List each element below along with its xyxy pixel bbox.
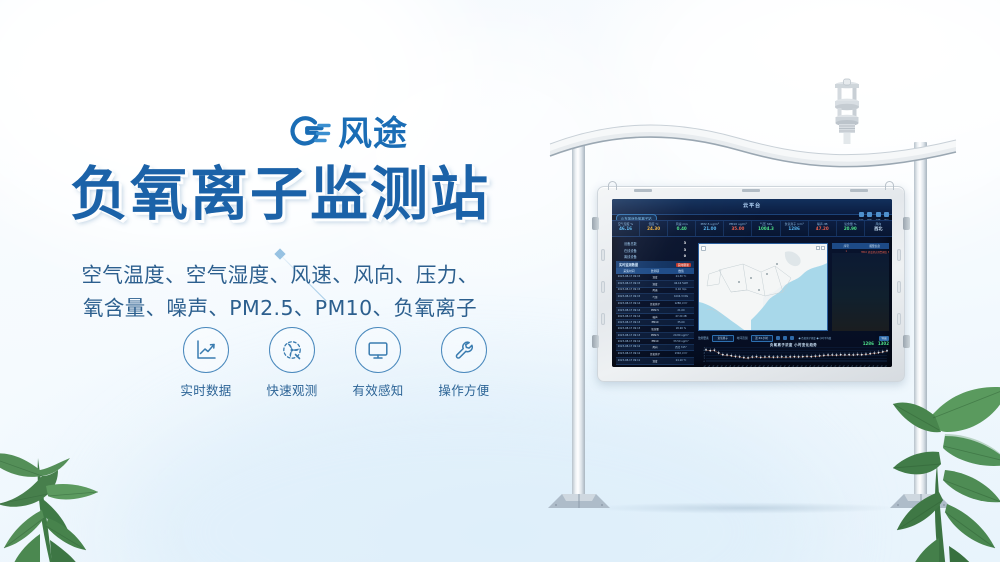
monitor-icon <box>355 327 401 373</box>
feature-list: 实时数据 快速观测 <box>175 327 495 399</box>
svg-text:37:00: 37:00 <box>858 365 863 367</box>
table-cell: 24.30 ℃ <box>668 274 694 280</box>
chart-filter-label-2: 时间范围 <box>737 336 748 340</box>
wave-canopy-icon <box>548 116 958 178</box>
svg-text:36:00: 36:00 <box>854 365 859 367</box>
svg-text:6: 6 <box>704 350 706 352</box>
table-cell: 33.50 ug/m³ <box>668 339 694 344</box>
svg-text:29:00: 29:00 <box>824 365 829 367</box>
svg-text:02:00: 02:00 <box>711 365 716 367</box>
cabinet-latch <box>601 281 605 293</box>
svg-text:13:00: 13:00 <box>757 365 762 367</box>
zoom-out-icon[interactable] <box>821 246 825 250</box>
svg-text:0: 0 <box>704 361 706 363</box>
subtitle-line-2: 氧含量、噪声、PM2.5、PM10、负氧离子 <box>0 292 560 325</box>
table-cell: 21.00 <box>668 308 694 313</box>
table-cell: 1286 /cm³ <box>668 301 694 307</box>
svg-text:16:00: 16:00 <box>769 365 774 367</box>
subtitle-line-1: 空气温度、空气湿度、风速、风向、压力、 <box>0 259 560 292</box>
svg-text:09:00: 09:00 <box>740 365 745 367</box>
cabinet-latch <box>897 313 901 325</box>
svg-text:22:00: 22:00 <box>795 365 800 367</box>
feature-item-fast-observation[interactable]: 快速观测 <box>261 327 323 399</box>
stat-key: 设备总数 <box>624 241 637 246</box>
table-cell: 0.40 m/s <box>668 288 694 294</box>
stat-value: 3 <box>684 248 686 253</box>
dashboard-title: 云平台 <box>743 202 761 209</box>
alarm-body: 1PM10 浓度超过预警阈值 35.0 <box>832 249 889 255</box>
table-row[interactable]: 2023-08-17 09:12风向西北 315° <box>616 345 694 352</box>
svg-text:19:00: 19:00 <box>782 365 787 367</box>
text-panel: 风途 负氧离子监测站 空气温度、空气湿度、风速、风向、压力、 氧含量、噪声、PM… <box>0 0 560 562</box>
table-cell: 2023-08-17 09:11 <box>616 358 642 364</box>
svg-text:43:00: 43:00 <box>883 365 888 367</box>
table-cell: 20.80 ug/m³ <box>668 333 694 338</box>
svg-text:20:00: 20:00 <box>786 365 791 367</box>
chart-view-bar-icon[interactable] <box>776 336 780 340</box>
feature-label: 有效感知 <box>347 380 409 399</box>
svg-text:15:00: 15:00 <box>765 365 770 367</box>
table-cell: 风向 <box>642 345 668 351</box>
table-cell: 2023-08-17 09:15 <box>616 281 642 287</box>
svg-text:1: 1 <box>704 358 705 360</box>
svg-text:28:00: 28:00 <box>820 365 825 367</box>
map-layers-icon[interactable] <box>701 246 706 251</box>
metric-card[interactable]: 温度 ℃24.30 <box>640 221 668 236</box>
chart-range-select[interactable]: 近 24 小时 <box>751 335 773 342</box>
fullscreen-icon <box>859 212 864 217</box>
svg-text:25:00: 25:00 <box>807 365 812 367</box>
svg-text:12:00: 12:00 <box>753 365 758 367</box>
table-cell: 20.90 % <box>668 326 694 332</box>
wind-g-logo-icon <box>285 113 331 155</box>
table-row[interactable]: 2023-08-17 09:14噪声47.20 dB <box>616 314 694 321</box>
table-row[interactable]: 2023-08-17 09:12负氧离子1302 /cm³ <box>616 351 694 358</box>
station-map[interactable] <box>698 243 828 331</box>
cabinet-latch <box>601 313 605 325</box>
svg-text:3: 3 <box>704 355 705 357</box>
table-cell: 2023-08-17 09:15 <box>616 288 642 294</box>
metric-value: 0.40 <box>668 226 695 233</box>
table-cell: 2023-08-17 09:12 <box>616 339 642 344</box>
table-cell: 湿度 <box>642 281 668 287</box>
table-cell: 负氧离子 <box>642 351 668 357</box>
metric-value: 46.16 <box>612 226 639 233</box>
svg-text:4: 4 <box>704 353 706 355</box>
table-row[interactable]: 2023-08-17 09:15气压1004.3 hPa <box>616 294 694 301</box>
svg-text:17:00: 17:00 <box>774 365 779 367</box>
table-cell: 2023-08-17 09:13 <box>616 320 642 325</box>
table-cell: 2023-08-17 09:12 <box>616 351 642 357</box>
table-title: 实时监测数据 <box>619 262 638 267</box>
camera-feed-panel <box>832 253 889 331</box>
radar-fan-icon <box>269 327 315 373</box>
chart-filter-label-1: 监测要素 <box>698 336 709 340</box>
map-zoom-controls[interactable] <box>816 246 826 250</box>
table-cell: 1004.3 hPa <box>668 294 694 300</box>
feature-item-realtime-data[interactable]: 实时数据 <box>175 327 237 399</box>
promo-banner: 风途 负氧离子监测站 空气温度、空气湿度、风速、风向、压力、 氧含量、噪声、PM… <box>0 0 1000 562</box>
svg-text:27:00: 27:00 <box>816 365 821 367</box>
alarm-cell: PM10 浓度超过预警阈值 35.0 <box>861 250 890 254</box>
svg-text:01:00: 01:00 <box>706 365 711 367</box>
svg-text:33:00: 33:00 <box>841 365 846 367</box>
svg-text:07:00: 07:00 <box>732 365 737 367</box>
chart-element-select[interactable]: 负氧离子 <box>712 335 734 342</box>
user-icon <box>884 212 889 217</box>
display-cabinet: 云平台 山东风途负氧离子站 全屏 刷新 设置 <box>597 186 905 382</box>
support-pole-left <box>572 142 585 500</box>
metric-value: 24.30 <box>640 226 667 233</box>
chart-legend: ● 负氧离子浓度 ● 小时平均值 <box>799 336 832 340</box>
table-cell: 24.10 ℃ <box>668 358 694 364</box>
table-row[interactable]: 2023-08-17 09:15湿度46.16 %RH <box>616 281 694 288</box>
table-row[interactable]: 2023-08-17 09:15温度24.30 ℃ <box>616 274 694 281</box>
cabinet-hinge <box>903 217 910 230</box>
stat-value: 3 <box>684 241 686 246</box>
stat-row: 设备总数3 <box>616 241 694 246</box>
svg-text:31:00: 31:00 <box>833 365 838 367</box>
zoom-in-icon[interactable] <box>816 246 820 250</box>
table-cell: 噪声 <box>642 314 668 320</box>
alarm-column-headers: 序号报警信息 <box>832 243 889 249</box>
metric-strip: 空气湿度 %46.16温度 ℃24.30风速 m/s0.40PM2.5 ug/m… <box>612 220 892 237</box>
chart-export-button[interactable]: 导出 <box>879 336 889 341</box>
alarm-cell: 1 <box>832 250 861 254</box>
table-row[interactable]: 2023-08-17 09:15风速0.40 m/s <box>616 288 694 295</box>
svg-text:41:00: 41:00 <box>875 365 880 367</box>
cabinet-hinge <box>592 335 599 348</box>
svg-text:38:00: 38:00 <box>862 365 867 367</box>
table-cell: 2023-08-17 09:13 <box>616 333 642 338</box>
feature-item-easy-operation[interactable]: 操作方便 <box>433 327 495 399</box>
cabinet-hinge <box>592 217 599 230</box>
table-cell: PM2.5 <box>642 308 668 313</box>
metric-card[interactable]: PM2.5 ug/m³21.00 <box>696 221 724 236</box>
table-cell: 气压 <box>642 294 668 300</box>
table-cell: 1302 /cm³ <box>668 351 694 357</box>
gear-icon <box>876 212 881 217</box>
table-cell: 2023-08-17 09:15 <box>616 274 642 280</box>
feature-label: 操作方便 <box>433 380 495 399</box>
table-body: 2023-08-17 09:15温度24.30 ℃2023-08-17 09:1… <box>616 274 694 365</box>
device-stats-panel: 设备总数3在线设备3离线设备0 <box>616 241 694 261</box>
svg-text:23:00: 23:00 <box>799 365 804 367</box>
metric-card[interactable]: 气压 hPa1004.3 <box>752 221 780 236</box>
svg-text:30:00: 30:00 <box>828 365 833 367</box>
alarm-column-header: 报警信息 <box>861 243 890 249</box>
metric-card[interactable]: 氧含量 %20.90 <box>837 221 865 236</box>
svg-text:34:00: 34:00 <box>845 365 850 367</box>
svg-text:03:00: 03:00 <box>715 365 720 367</box>
table-row[interactable]: 2023-08-17 09:14负氧离子1286 /cm³ <box>616 301 694 308</box>
cabinet-hinge <box>903 335 910 348</box>
svg-text:18:00: 18:00 <box>778 365 783 367</box>
status-badge: 实时刷新 <box>676 263 691 267</box>
alarm-column-header: 序号 <box>832 243 861 249</box>
metric-value: 西北 <box>865 226 892 233</box>
cabinet-latch <box>601 249 605 261</box>
svg-text:06:00: 06:00 <box>727 365 732 367</box>
stat-row: 离线设备0 <box>616 254 694 259</box>
wrench-icon <box>441 327 487 373</box>
table-header-bar: 实时监测数据 实时刷新 <box>616 261 694 268</box>
metric-value: 20.90 <box>837 226 864 233</box>
dashboard-screen[interactable]: 云平台 山东风途负氧离子站 全屏 刷新 设置 <box>612 199 892 367</box>
svg-text:11:00: 11:00 <box>748 365 753 367</box>
cabinet-hook-icon <box>608 181 617 190</box>
svg-text:04:00: 04:00 <box>719 365 724 367</box>
realtime-data-table[interactable]: 实时监测数据 实时刷新 采集时间监测项数值 2023-08-17 09:15温度… <box>616 261 694 365</box>
table-cell: 2023-08-17 09:14 <box>616 314 642 320</box>
table-cell: 2023-08-17 09:13 <box>616 326 642 332</box>
table-cell: 35.00 <box>668 320 694 325</box>
table-cell: 风速 <box>642 288 668 294</box>
trend-chart[interactable]: 76431000:0001:0002:0003:0004:0005:0006:0… <box>698 346 889 367</box>
metric-card[interactable]: 风向西北 <box>865 221 892 236</box>
refresh-icon <box>867 212 872 217</box>
table-cell: 西北 315° <box>668 345 694 351</box>
table-cell: 负氧离子 <box>642 301 668 307</box>
cabinet-hook-icon <box>885 181 894 190</box>
metric-value: 1004.3 <box>752 226 779 233</box>
page-title: 负氧离子监测站 <box>0 163 560 226</box>
table-cell: 46.16 %RH <box>668 281 694 287</box>
table-cell: 47.20 dB <box>668 314 694 320</box>
metric-value: 1286 <box>781 226 808 233</box>
svg-text:08:00: 08:00 <box>736 365 741 367</box>
stat-key: 在线设备 <box>624 248 637 253</box>
chart-controls: 监测要素 负氧离子 时间范围 近 24 小时 ● 负氧离子浓度 ● 小时平均值 … <box>698 334 889 342</box>
feature-label: 快速观测 <box>261 380 323 399</box>
chart-view-table-icon[interactable] <box>790 336 794 340</box>
alarm-panel: 序号报警信息 1PM10 浓度超过预警阈值 35.0 <box>832 243 889 255</box>
stat-key: 离线设备 <box>624 254 637 259</box>
pole-base-plate-icon <box>890 492 952 509</box>
svg-text:00:00: 00:00 <box>702 365 707 367</box>
table-cell: PM2.5 <box>642 333 668 338</box>
table-cell: 温度 <box>642 274 668 280</box>
pole-base-plate-icon <box>548 492 610 509</box>
metric-card[interactable]: 噪声 dB47.20 <box>809 221 837 236</box>
table-row[interactable]: 2023-08-17 09:13氧含量20.90 % <box>616 326 694 333</box>
table-cell: PM10 <box>642 339 668 344</box>
brand-name: 风途 <box>338 117 408 151</box>
title-divider <box>274 248 285 259</box>
svg-text:35:00: 35:00 <box>849 365 854 367</box>
table-cell: 2023-08-17 09:14 <box>616 301 642 307</box>
alarm-row[interactable]: 1PM10 浓度超过预警阈值 35.0 <box>832 249 889 255</box>
svg-text:21:00: 21:00 <box>791 365 796 367</box>
svg-text:42:00: 42:00 <box>879 365 884 367</box>
svg-text:14:00: 14:00 <box>761 365 766 367</box>
svg-text:26:00: 26:00 <box>812 365 817 367</box>
metric-card[interactable]: 风速 m/s0.40 <box>668 221 696 236</box>
cabinet-mount-tab <box>742 189 760 192</box>
table-row[interactable]: 2023-08-17 09:11温度24.10 ℃ <box>616 358 694 365</box>
stat-value: 0 <box>684 254 686 259</box>
line-chart-icon <box>183 327 229 373</box>
table-cell: 2023-08-17 09:12 <box>616 345 642 351</box>
svg-text:05:00: 05:00 <box>723 365 728 367</box>
metric-card[interactable]: 负氧离子 /cm³1286 <box>781 221 809 236</box>
cabinet-mount-tab <box>634 189 652 192</box>
table-cell: 氧含量 <box>642 326 668 332</box>
metric-card[interactable]: 空气湿度 %46.16 <box>612 221 640 236</box>
metric-value: 21.00 <box>696 226 723 233</box>
feature-item-effective-sensing[interactable]: 有效感知 <box>347 327 409 399</box>
table-cell: 2023-08-17 09:14 <box>616 308 642 313</box>
cabinet-mount-tab <box>850 189 868 192</box>
ultrasonic-weather-sensor-icon <box>825 78 869 146</box>
svg-text:40:00: 40:00 <box>870 365 875 367</box>
table-cell: 2023-08-17 09:15 <box>616 294 642 300</box>
brand-logo: 风途 <box>285 113 408 155</box>
support-pole-right <box>914 142 927 500</box>
table-cell: PM10 <box>642 320 668 325</box>
metric-value: 47.20 <box>809 226 836 233</box>
metric-card[interactable]: PM10 ug/m³35.00 <box>724 221 752 236</box>
svg-text:24:00: 24:00 <box>803 365 808 367</box>
subtitle: 空气温度、空气湿度、风速、风向、压力、 氧含量、噪声、PM2.5、PM10、负氧… <box>0 259 560 325</box>
svg-text:7: 7 <box>704 347 705 349</box>
metric-value: 35.00 <box>724 226 751 233</box>
svg-text:10:00: 10:00 <box>744 365 749 367</box>
stat-row: 在线设备3 <box>616 248 694 253</box>
cabinet-latch <box>897 249 901 261</box>
cabinet-latch <box>897 281 901 293</box>
svg-text:32:00: 32:00 <box>837 365 842 367</box>
product-illustration: 云平台 山东风途负氧离子站 全屏 刷新 设置 <box>500 0 1000 562</box>
table-cell: 温度 <box>642 358 668 364</box>
feature-label: 实时数据 <box>175 380 237 399</box>
chart-view-line-icon[interactable] <box>783 336 787 340</box>
svg-text:39:00: 39:00 <box>866 365 871 367</box>
